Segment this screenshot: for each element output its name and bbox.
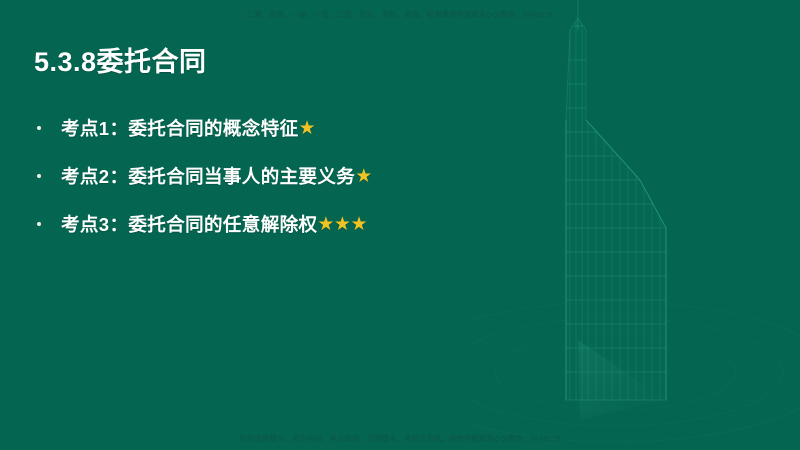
- bullet-list: 考点1：委托合同的概念特征 ★ 考点2：委托合同当事人的主要义务 ★ 考点3：委…: [34, 104, 534, 248]
- bullet-dot-icon: [37, 126, 41, 130]
- star-rating: ★: [355, 167, 372, 186]
- list-item-label: 考点1：委托合同的概念特征: [61, 115, 299, 141]
- list-item-label: 考点3：委托合同的任意解除权: [61, 211, 317, 237]
- watermark-bottom-banner: 名师面授精华、央企内训、考点串讲、习题模考、考前三页纸。绝密押题联系QQ/微信：…: [0, 435, 800, 442]
- star-rating: ★: [299, 119, 316, 138]
- list-item[interactable]: 考点3：委托合同的任意解除权 ★★★: [34, 200, 534, 248]
- star-rating: ★★★: [317, 215, 367, 234]
- presentation-slide: 二建、监理、一建、一造、二造、安全、消防、咨询、检测课程押题联系QQ/微信：38…: [0, 0, 800, 450]
- list-item[interactable]: 考点2：委托合同当事人的主要义务 ★: [34, 152, 534, 200]
- list-item[interactable]: 考点1：委托合同的概念特征 ★: [34, 104, 534, 152]
- list-item-label: 考点2：委托合同当事人的主要义务: [61, 163, 355, 189]
- bullet-dot-icon: [37, 222, 41, 226]
- page-title: 5.3.8委托合同: [34, 46, 207, 78]
- bullet-dot-icon: [37, 174, 41, 178]
- watermark-top-banner: 二建、监理、一建、一造、二造、安全、消防、咨询、检测课程押题联系QQ/微信：38…: [0, 11, 800, 18]
